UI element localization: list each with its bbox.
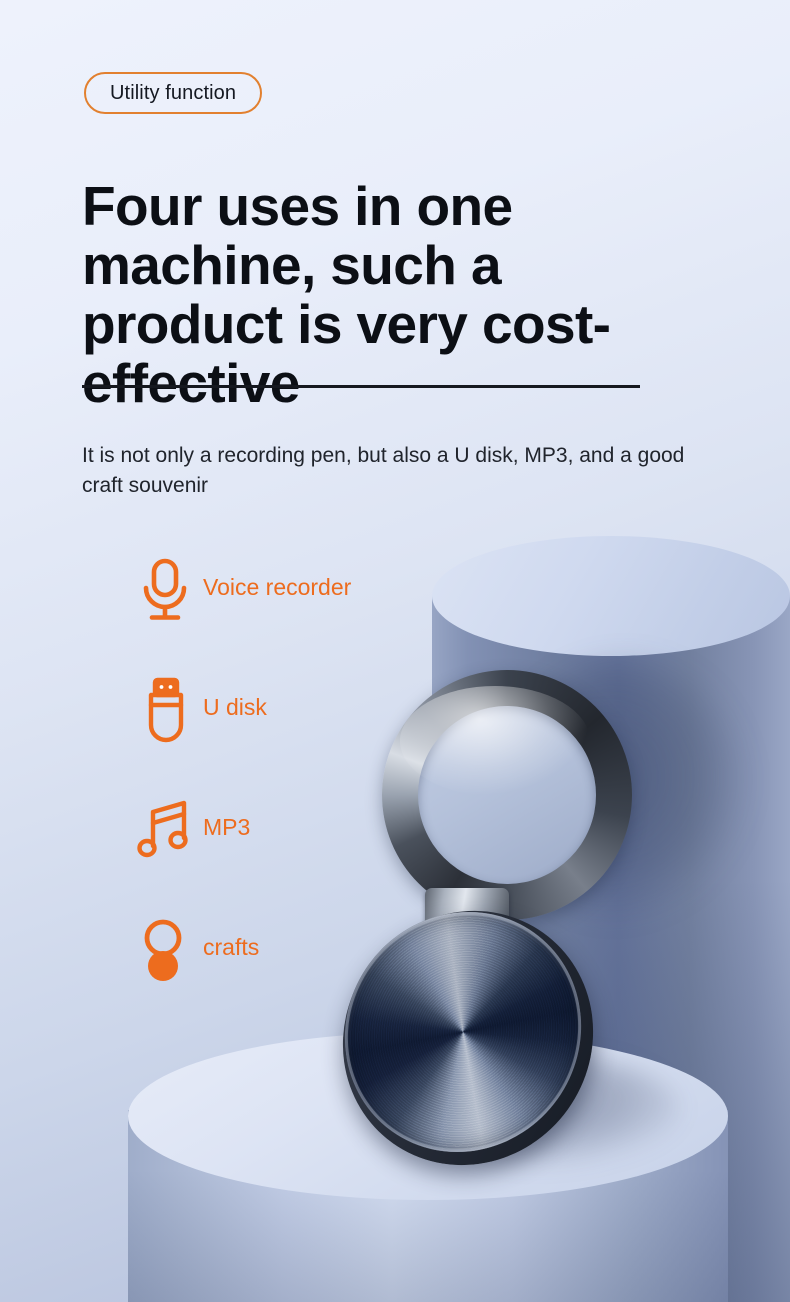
feature-item-voice-recorder: Voice recorder — [138, 558, 468, 678]
feature-label: MP3 — [203, 814, 250, 841]
title-divider — [82, 385, 640, 388]
feature-list: Voice recorder U disk — [138, 558, 468, 1038]
feature-item-mp3: MP3 — [138, 798, 468, 918]
ring-keychain-icon — [138, 918, 194, 984]
utility-function-badge: Utility function — [84, 72, 262, 114]
feature-item-u-disk: U disk — [138, 678, 468, 798]
feature-label: U disk — [203, 694, 267, 721]
microphone-icon — [138, 558, 194, 624]
music-note-icon — [138, 798, 194, 864]
page-title: Four uses in one machine, such a product… — [82, 177, 682, 413]
back-cylinder-top-face — [432, 536, 790, 656]
product-feature-banner: Utility function Four uses in one machin… — [0, 0, 790, 1302]
feature-label: crafts — [203, 934, 259, 961]
badge-label: Utility function — [110, 82, 236, 105]
feature-item-crafts: crafts — [138, 918, 468, 1038]
subtitle: It is not only a recording pen, but also… — [82, 441, 707, 501]
feature-label: Voice recorder — [203, 574, 351, 601]
usb-drive-icon — [138, 678, 194, 744]
